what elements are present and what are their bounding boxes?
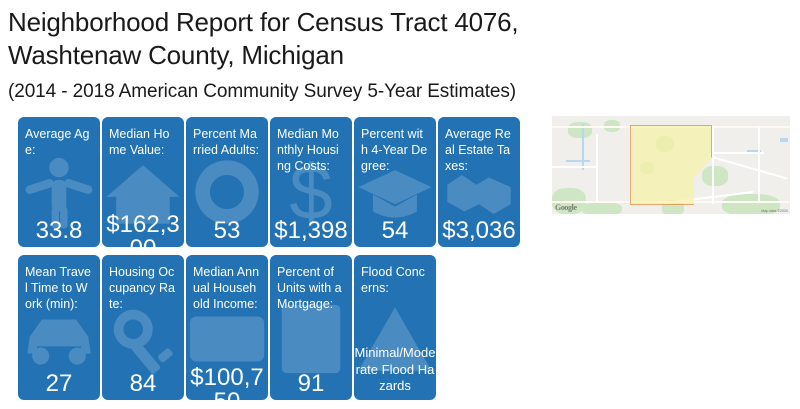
- stat-card-label: Average Real Estate Taxes:: [445, 126, 513, 174]
- map-water-feature: [780, 138, 788, 142]
- page-title: Neighborhood Report for Census Tract 407…: [8, 6, 648, 73]
- map-park-area: [568, 122, 592, 138]
- stat-card-average-real-estate-taxes[interactable]: Average Real Estate Taxes: $3,036: [438, 117, 520, 247]
- map-road: [596, 134, 598, 202]
- map-water-feature: [566, 160, 590, 162]
- stat-card-label: Average Age:: [25, 126, 93, 158]
- stat-card-value: 91: [270, 372, 352, 396]
- map-park-area: [582, 202, 622, 214]
- stat-card-value: $3,036: [438, 219, 520, 243]
- stat-card-label: Percent with 4-Year Degree:: [361, 126, 429, 174]
- stat-card-label: Housing Occupancy Rate:: [109, 264, 177, 312]
- stat-card-value: 53: [186, 219, 268, 243]
- stat-card-label: Percent of Units with a Mortgage:: [277, 264, 345, 312]
- stat-card-label: Mean Travel Time to Work (min):: [25, 264, 93, 312]
- stat-card-value: 84: [102, 372, 184, 396]
- map-road: [552, 166, 598, 168]
- stat-card-value: $1,398: [270, 219, 352, 243]
- stat-card-median-home-value[interactable]: Median Home Value: $162,300: [102, 117, 184, 247]
- stat-card-value: 54: [354, 219, 436, 243]
- stat-card-median-monthly-housing-costs[interactable]: Median Monthly Housing Costs: $ $1,398: [270, 117, 352, 247]
- stat-card-average-age[interactable]: Average Age: 33.8: [18, 117, 100, 247]
- map-road: [714, 152, 764, 154]
- google-logo: Google: [555, 203, 577, 212]
- stat-card-flood-concerns[interactable]: Flood Concerns: Minimal/Moderate Flood H…: [354, 255, 436, 400]
- map-road: [758, 126, 760, 202]
- map-park-area: [702, 166, 728, 186]
- stat-card-percent-units-with-mortgage[interactable]: Percent of Units with a Mortgage: 91: [270, 255, 352, 400]
- stat-card-label: Flood Concerns:: [361, 264, 429, 296]
- map-water-feature: [582, 124, 584, 170]
- stat-card-label: Median Home Value:: [109, 126, 177, 158]
- stat-card-value: 27: [18, 372, 100, 396]
- stat-card-housing-occupancy-rate[interactable]: Housing Occupancy Rate: 84: [102, 255, 184, 400]
- stat-card-mean-travel-time-to-work[interactable]: Mean Travel Time to Work (min): 27: [18, 255, 100, 400]
- stat-card-row-1: Average Age: 33.8 Median Home Value: $16…: [18, 117, 520, 247]
- stat-card-label: Median Annual Household Income:: [193, 264, 261, 312]
- stat-card-median-annual-household-income[interactable]: Median Annual Household Income: $100,750: [186, 255, 268, 400]
- stat-card-value: 33.8: [18, 219, 100, 243]
- map-road: [712, 126, 714, 204]
- stat-card-percent-with-4-year-degree[interactable]: Percent with 4-Year Degree: 54: [354, 117, 436, 247]
- stat-card-value: Minimal/Moderate Flood Hazards: [354, 345, 436, 394]
- stat-card-label: Percent Married Adults:: [193, 126, 261, 158]
- stat-card-percent-married-adults[interactable]: Percent Married Adults: 53: [186, 117, 268, 247]
- stat-card-value: $162,300: [102, 213, 184, 247]
- stat-card-row-2: Mean Travel Time to Work (min): 27 Housi…: [18, 255, 436, 400]
- map-attribution: Map data ©2020: [761, 209, 788, 213]
- stat-card-value: $100,750: [186, 366, 268, 400]
- census-tract-locator-map[interactable]: Google Map data ©2020: [552, 116, 790, 214]
- page-subtitle: (2014 - 2018 American Community Survey 5…: [8, 81, 648, 104]
- report-header: Neighborhood Report for Census Tract 407…: [8, 6, 648, 103]
- stat-card-label: Median Monthly Housing Costs:: [277, 126, 345, 174]
